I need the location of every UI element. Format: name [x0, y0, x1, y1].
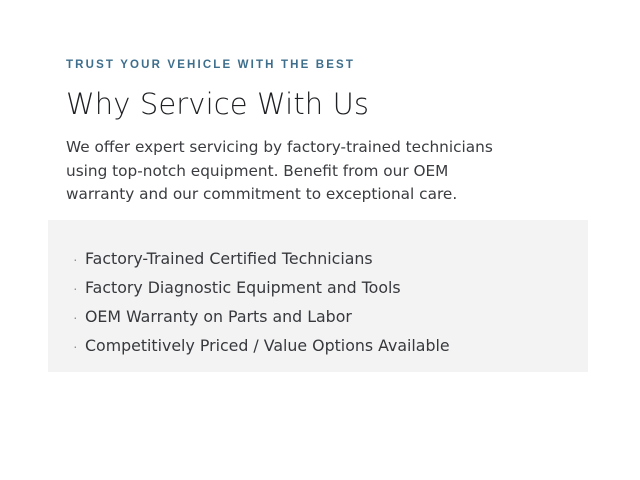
list-item: · Factory Diagnostic Equipment and Tools — [48, 273, 588, 302]
list-item: · Competitively Priced / Value Options A… — [48, 331, 588, 360]
feature-list-panel: · Factory-Trained Certified Technicians … — [48, 220, 588, 372]
bullet-dot-icon: · — [73, 303, 85, 332]
feature-label: OEM Warranty on Parts and Labor — [85, 302, 352, 331]
page-title: Why Service With Us — [66, 85, 588, 123]
description-line-2: using top-notch equipment. Benefit from … — [66, 160, 556, 184]
section-eyebrow: TRUST YOUR VEHICLE WITH THE BEST — [66, 58, 588, 72]
bullet-dot-icon: · — [73, 245, 85, 274]
list-item: · OEM Warranty on Parts and Labor — [48, 302, 588, 331]
description-line-3: warranty and our commitment to exception… — [66, 183, 556, 207]
list-item: · Factory-Trained Certified Technicians — [48, 244, 588, 273]
feature-label: Competitively Priced / Value Options Ava… — [85, 331, 450, 360]
description-line-1: We offer expert servicing by factory-tra… — [66, 136, 556, 160]
feature-list: · Factory-Trained Certified Technicians … — [48, 220, 588, 360]
section-description: We offer expert servicing by factory-tra… — [66, 136, 556, 207]
section-header-block: TRUST YOUR VEHICLE WITH THE BEST Why Ser… — [66, 58, 588, 207]
feature-label: Factory-Trained Certified Technicians — [85, 244, 373, 273]
why-service-with-us-section: TRUST YOUR VEHICLE WITH THE BEST Why Ser… — [0, 0, 640, 480]
bullet-dot-icon: · — [73, 274, 85, 303]
bullet-dot-icon: · — [73, 332, 85, 361]
feature-label: Factory Diagnostic Equipment and Tools — [85, 273, 401, 302]
